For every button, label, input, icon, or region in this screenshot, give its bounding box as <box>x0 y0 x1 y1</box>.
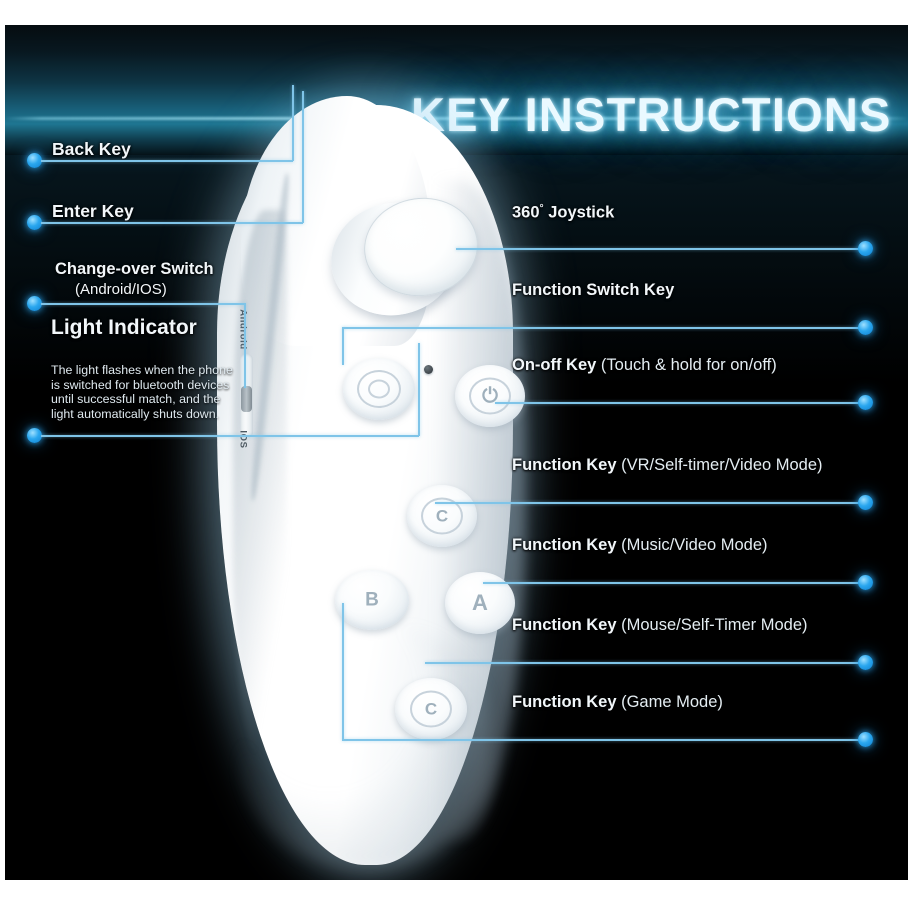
leader-line-fn-switch-h <box>343 327 865 329</box>
leader-line-enter-key-v <box>302 91 304 223</box>
function-key-mouse-button[interactable]: C <box>395 678 467 740</box>
callout-label-light-indicator: Light Indicator <box>51 316 197 340</box>
fnmusic-label-main: Function Key <box>512 536 617 554</box>
leader-line-light-indicator-v <box>418 343 420 436</box>
leader-line-enter-key-h <box>41 222 303 224</box>
a-letter-icon: A <box>472 592 488 614</box>
callout-label-enter-key: Enter Key <box>52 201 134 222</box>
fngame-label-sub: (Game Mode) <box>617 693 723 711</box>
callout-dot-change-over-switch[interactable] <box>27 296 42 311</box>
onoff-label-main: On-off Key <box>512 356 596 374</box>
fnvr-label-sub: (VR/Self-timer/Video Mode) <box>617 456 823 474</box>
leader-line-joystick-h <box>457 248 865 250</box>
callout-dot-back-key[interactable] <box>27 153 42 168</box>
callout-label-back-key: Back Key <box>52 139 131 160</box>
leader-line-light-indicator-h <box>41 435 419 437</box>
function-key-b-button[interactable]: B <box>335 570 409 630</box>
callout-dot-light-indicator[interactable] <box>27 428 42 443</box>
leader-line-change-over-h <box>41 303 245 305</box>
b-letter-icon: B <box>365 591 379 610</box>
callout-dot-function-key-mouse[interactable] <box>858 655 873 670</box>
callout-dot-enter-key[interactable] <box>27 215 42 230</box>
callout-dot-function-key-music[interactable] <box>858 575 873 590</box>
callout-label-joystick-360: 360° Joystick <box>512 203 614 223</box>
leader-line-back-key-v <box>292 85 294 161</box>
callout-dot-on-off-key[interactable] <box>858 395 873 410</box>
callout-label-function-key-vr: Function Key (VR/Self-timer/Video Mode) <box>512 456 823 475</box>
c-letter-icon: C <box>425 701 437 718</box>
callout-label-function-key-mouse: Function Key (Mouse/Self-Timer Mode) <box>512 616 808 635</box>
leader-line-joystick-v <box>456 248 458 250</box>
callout-dot-function-key-game[interactable] <box>858 732 873 747</box>
fnvr-label-main: Function Key <box>512 456 617 474</box>
leader-line-fn-vr-h <box>435 502 865 504</box>
fnmouse-label-main: Function Key <box>512 616 617 634</box>
c-letter-icon: C <box>436 508 448 525</box>
button-ring-inner <box>368 380 390 399</box>
callout-description-light-indicator: The light flashes when the phone is swit… <box>51 363 245 421</box>
function-key-vr-button[interactable]: C <box>407 485 477 547</box>
leader-line-fn-switch-v <box>342 327 344 365</box>
device-bottom-shading <box>241 620 491 870</box>
leader-line-fn-game-h <box>343 739 865 741</box>
leader-line-fn-music-h <box>483 582 865 584</box>
function-switch-key-button[interactable] <box>343 358 415 420</box>
leader-line-back-key-h <box>41 160 293 162</box>
fnmusic-label-sub: (Music/Video Mode) <box>617 536 768 554</box>
page-root: KEY INSTRUCTIONS Android IOS <box>0 0 908 908</box>
callout-dot-function-key-vr[interactable] <box>858 495 873 510</box>
callout-sublabel-change-over-switch: (Android/IOS) <box>75 281 167 298</box>
leader-line-on-off-h <box>495 402 865 404</box>
callout-dot-joystick-360[interactable] <box>858 241 873 256</box>
device-illustration: Android IOS ⏻ C B <box>145 60 575 880</box>
leader-line-fn-mouse-h <box>425 662 865 664</box>
callout-label-function-switch-key: Function Switch Key <box>512 281 674 300</box>
fngame-label-main: Function Key <box>512 693 617 711</box>
fn-switch-label-main: Function Switch Key <box>512 281 674 299</box>
callout-label-change-over-switch: Change-over Switch <box>55 260 214 279</box>
onoff-label-sub: (Touch & hold for on/off) <box>596 356 776 374</box>
instruction-panel: KEY INSTRUCTIONS Android IOS <box>5 25 908 880</box>
callout-label-on-off-key: On-off Key (Touch & hold for on/off) <box>512 356 777 375</box>
leader-line-fn-game-v <box>342 603 344 741</box>
light-indicator-led <box>424 365 433 374</box>
fnmouse-label-sub: (Mouse/Self-Timer Mode) <box>617 616 808 634</box>
callout-dot-function-switch-key[interactable] <box>858 320 873 335</box>
callout-label-function-key-game: Function Key (Game Mode) <box>512 693 723 712</box>
joystick-label-main: 360 <box>512 204 540 222</box>
callout-label-function-key-music: Function Key (Music/Video Mode) <box>512 536 768 555</box>
joystick-label-rest: Joystick <box>544 204 615 222</box>
